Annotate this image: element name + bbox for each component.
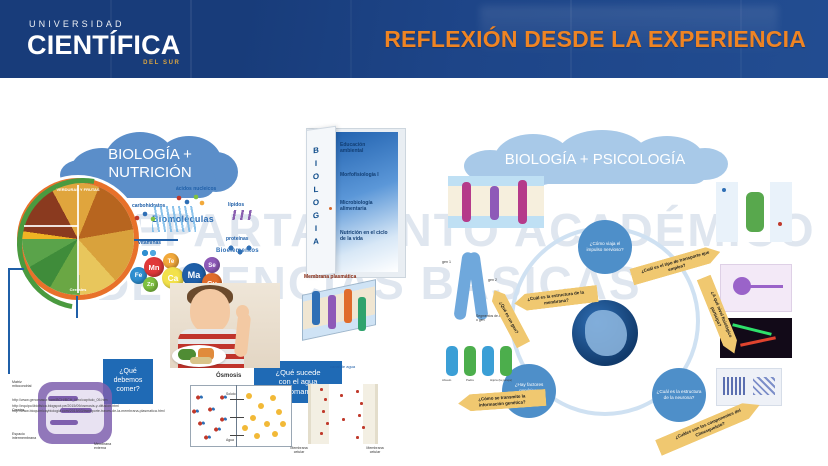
channel-ion-dot — [340, 394, 343, 397]
boy-hand — [236, 305, 249, 319]
node-estructura-neurona: ¿Cuál es la estructura de la neurona? — [652, 368, 706, 422]
channel-ion-dot — [326, 422, 329, 425]
node-impulso-nervioso: ¿Cómo viaja el impulso nervioso? — [578, 220, 632, 274]
osmosis-solute-molecule — [272, 431, 278, 437]
membrane-illustration: Membrana plasmática — [300, 283, 380, 349]
membrane-protein — [358, 297, 366, 331]
door-knob-icon — [329, 207, 332, 210]
transport-protein — [746, 192, 764, 232]
person-figure — [482, 346, 494, 376]
chromosome-label-gen-1: gen 1 — [442, 260, 451, 264]
bioelement-ball-zn: Zn — [143, 277, 158, 292]
osmosis-water-molecule — [220, 417, 227, 422]
osmosis-solute-molecule — [264, 421, 270, 427]
osmosis-solute-molecule — [254, 433, 260, 439]
door-item-microbiologia-alimentaria: Microbiología alimentaria — [340, 200, 388, 213]
channel-ion-dot — [362, 426, 365, 429]
channel-side-label-left: Membrana celular — [286, 446, 312, 455]
family-label-0: Abuelo — [442, 378, 451, 382]
osmosis-water-molecule — [208, 407, 215, 412]
osmosis-solute-molecule — [258, 403, 264, 409]
door-item-educacion-ambiental: Educación ambiental — [340, 142, 388, 155]
photo-boy-eating — [170, 283, 280, 368]
molecule-icon-biomolecule-center — [152, 206, 196, 232]
osmosis-solute-molecule — [270, 395, 276, 401]
osmosis-solute-molecule — [280, 421, 286, 427]
bioelement-ball-mn: Mn — [144, 257, 164, 277]
door-item-nutricion-ciclo-vida: Nutrición en el ciclo de la vida — [340, 230, 388, 243]
fluorescent-neurite — [740, 336, 776, 346]
channel-ion-dot — [342, 418, 345, 421]
fluorescent-neurite — [732, 323, 772, 336]
channel-ion-dot — [360, 402, 363, 405]
thumbnail-family-pedigree: Abuelo Padre Hijo/a (la pareja) — [440, 336, 520, 386]
membrane-protein — [462, 182, 471, 222]
thumbnail-chromosome: gen 1 gen 2 Segmentos de ADN o gen — [444, 248, 502, 328]
channel-ion-dot — [356, 436, 359, 439]
osmosis-title: Ósmosis — [216, 373, 241, 379]
channel-ion-dot — [322, 410, 325, 413]
osmosis-water-molecule — [204, 435, 211, 440]
food-wheel-diagram: VERDURAS Y FRUTAS Cereales — [22, 183, 134, 295]
organelle-crista — [50, 420, 78, 425]
molecule-icon-nucleic-acids — [175, 194, 205, 206]
connector-wheel-to-question — [76, 296, 78, 318]
cloud-left-line1: BIOLOGÍA + — [108, 146, 192, 164]
channel-ion-dot — [356, 390, 359, 393]
door-item-morfofisiologia: Morfofisiología I — [340, 172, 388, 178]
logo-line-del-sur: DEL SUR — [27, 60, 181, 66]
connector-elbow — [8, 268, 24, 270]
osmosis-solute-molecule — [250, 415, 256, 421]
membrane-protein — [518, 180, 527, 224]
osmosis-diagram: Ósmosis Soluto Agua — [186, 373, 296, 453]
channel-ion-dot — [320, 432, 323, 435]
filament-pattern — [753, 377, 775, 395]
wheel-divider-vertical — [77, 185, 79, 293]
brain-face-profile — [585, 310, 627, 356]
channel-label: canal de agua — [330, 364, 355, 369]
thumbnail-neuron-micrograph — [720, 264, 792, 312]
cloud-right-text: BIOLOGÍA + PSICOLOGÍA — [505, 147, 685, 169]
bioelements-title: Bioelementos — [216, 248, 259, 254]
chromosome-label-gen-2: gen 2 — [488, 278, 497, 282]
osmosis-tick — [230, 399, 244, 400]
person-figure — [500, 346, 512, 376]
slide-title: REFLEXIÓN DESDE LA EXPERIENCIA — [384, 26, 806, 53]
person-figure — [446, 346, 458, 376]
logo-line-cientifica: CIENTÍFICA — [27, 32, 181, 59]
bioelement-ball-se: Se — [204, 257, 220, 273]
channel-ion-dot — [358, 414, 361, 417]
membrane-protein — [328, 295, 336, 329]
boy-head — [190, 289, 230, 333]
osmosis-water-molecule — [220, 395, 227, 400]
door-vertical-label: BIOLOGIA — [309, 143, 323, 249]
osmosis-solute-molecule — [242, 425, 248, 431]
osmosis-label-agua: Agua — [226, 438, 234, 442]
organelle-label-3: Membrana externa — [94, 442, 120, 450]
osmosis-solute-molecule — [276, 409, 282, 415]
channel-membrane — [308, 384, 378, 444]
cloud-left-text: BIOLOGÍA + NUTRICIÓN — [108, 146, 192, 182]
cloud-left-line2: NUTRICIÓN — [108, 164, 192, 182]
membrane-protein — [490, 186, 499, 220]
osmosis-water-molecule — [198, 421, 205, 426]
family-label-1: Padre — [466, 378, 474, 382]
thumbnail-cell-membrane — [448, 176, 544, 228]
biomolecule-label-vitaminas: vitaminas — [138, 240, 161, 246]
q1-line1: ¿Qué — [119, 368, 137, 377]
membrane-label: Membrana plasmática — [304, 274, 356, 280]
osmosis-label-soluto: Soluto — [226, 392, 236, 396]
university-logo: UNIVERSIDAD CIENTÍFICA DEL SUR — [27, 20, 181, 66]
ion-dot — [722, 188, 726, 192]
wheel-divider-horizontal — [24, 225, 78, 227]
biomolecule-label-lipidos: lípidos — [228, 202, 244, 208]
right-concept-diagram: ¿Cómo viaja el impulso nervioso? ¿Hay fa… — [430, 168, 828, 466]
microtubule-pattern — [723, 377, 747, 395]
osmosis-water-molecule — [196, 395, 203, 400]
slide-body: DEPARTAMENTO ACADÉMICO DE CIENCIAS BÁSIC… — [0, 78, 828, 466]
channel-ion-dot — [324, 398, 327, 401]
logo-line-universidad: UNIVERSIDAD — [27, 20, 181, 29]
biomolecule-label-proteinas: proteínas — [226, 236, 249, 242]
osmosis-water-molecule — [214, 427, 221, 432]
osmosis-solute-molecule — [246, 393, 252, 399]
brain-illustration — [572, 300, 638, 366]
channel-side-label-right: Membrana celular — [362, 446, 388, 455]
organelle-label-0: Matriz mitocondrial — [12, 380, 38, 388]
source-urls: http://www.genomasur.com/BCH/BCH_libro/c… — [12, 398, 165, 415]
connector-wheel-to-organelle — [8, 268, 10, 374]
thumbnail-membrane-transport — [716, 182, 792, 242]
source-url-3: http://www.bioquimicaybiologia.com/2015/… — [12, 409, 165, 415]
membrane-protein — [312, 291, 320, 325]
biomolecule-label-acidos-nucleicos: ácidos nucleicos — [176, 186, 216, 192]
family-label-2: Hijo/a (la pareja) — [490, 378, 512, 382]
osmosis-water-molecule — [192, 409, 199, 414]
molecule-icon-lipids — [228, 210, 256, 220]
membrane-protein — [344, 289, 352, 323]
osmosis-tick — [230, 417, 244, 418]
neuron-axon — [749, 285, 783, 288]
channel-ion-dot — [320, 388, 323, 391]
slide-header: UNIVERSIDAD CIENTÍFICA DEL SUR REFLEXIÓN… — [0, 0, 828, 78]
osmosis-tick — [230, 435, 244, 436]
person-figure — [464, 346, 476, 376]
chromatid — [467, 251, 488, 320]
ion-dot — [778, 222, 782, 226]
plate-food-grain — [190, 357, 212, 364]
water-channel-illustration: canal de agua Membrana celular Membrana … — [300, 368, 388, 456]
door-diagram: BIOLOGIA Educación ambiental Morfofisiol… — [298, 128, 410, 283]
osmosis-semipermeable-membrane — [236, 385, 237, 447]
organelle-label-2: Espacio intermembrana — [12, 432, 40, 440]
